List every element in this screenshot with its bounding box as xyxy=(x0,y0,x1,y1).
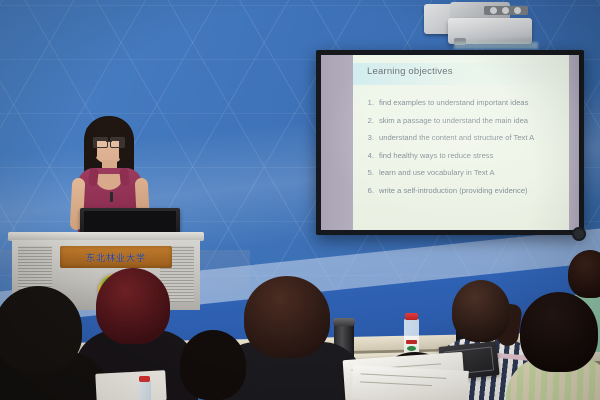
list-item: 2. skim a passage to understand the main… xyxy=(365,115,563,126)
screen-surface: Learning objectives 1. find examples to … xyxy=(321,55,579,230)
list-item-text: skim a passage to understand the main id… xyxy=(379,115,528,126)
projection-screen: Learning objectives 1. find examples to … xyxy=(316,50,584,235)
screen-unlit-right-margin xyxy=(569,55,579,230)
list-item-number: 1. xyxy=(365,97,374,108)
slide-title: Learning objectives xyxy=(367,66,453,77)
audience-head xyxy=(0,286,82,372)
projector xyxy=(424,2,542,48)
list-item-number: 5. xyxy=(365,167,374,178)
audience-head xyxy=(96,268,170,344)
list-item-text: find healthy ways to reduce stress xyxy=(379,150,493,161)
classroom-photo: Learning objectives 1. find examples to … xyxy=(0,0,600,400)
lectern-nameplate-text: 东北林业大学 xyxy=(86,251,146,264)
list-item-text: learn and use vocabulary in Text A xyxy=(379,167,495,178)
list-item-text: write a self-introduction (providing evi… xyxy=(379,185,528,196)
water-bottle-small-cap xyxy=(139,376,150,382)
lectern-nameplate: 东北林业大学 xyxy=(60,246,172,268)
water-bottle-cap xyxy=(405,313,418,320)
clip-microphone-icon xyxy=(110,192,113,202)
open-papers-secondary xyxy=(351,365,469,400)
audience-head xyxy=(180,330,246,400)
screen-mount-bracket xyxy=(572,227,586,241)
projector-control-dots xyxy=(490,7,524,14)
glasses-icon xyxy=(92,137,126,146)
list-item: 5. learn and use vocabulary in Text A xyxy=(365,167,563,178)
audience-head xyxy=(244,276,330,358)
water-bottle-small xyxy=(138,380,151,400)
list-item-number: 4. xyxy=(365,150,374,161)
list-item-text: find examples to understand important id… xyxy=(379,97,528,108)
audience-head xyxy=(452,280,510,342)
list-item: 3. understand the content and structure … xyxy=(365,132,563,143)
list-item-number: 3. xyxy=(365,132,374,143)
audience-head xyxy=(520,292,598,372)
list-item: 4. find healthy ways to reduce stress xyxy=(365,150,563,161)
document-sheet xyxy=(95,370,166,400)
list-item-text: understand the content and structure of … xyxy=(379,132,534,143)
list-item: 6. write a self-introduction (providing … xyxy=(365,185,563,196)
list-item-number: 2. xyxy=(365,115,374,126)
laptop-screen xyxy=(84,211,176,233)
list-item: 1. find examples to understand important… xyxy=(365,97,563,108)
thermos-lid xyxy=(333,318,355,326)
slide-objectives-list: 1. find examples to understand important… xyxy=(365,97,563,203)
presenter-strap-right xyxy=(119,168,130,187)
audience-head xyxy=(568,250,600,298)
screen-unlit-left-margin xyxy=(321,55,353,230)
projector-light-spill xyxy=(454,42,538,49)
slide: Learning objectives 1. find examples to … xyxy=(353,55,569,230)
list-item-number: 6. xyxy=(365,185,374,196)
